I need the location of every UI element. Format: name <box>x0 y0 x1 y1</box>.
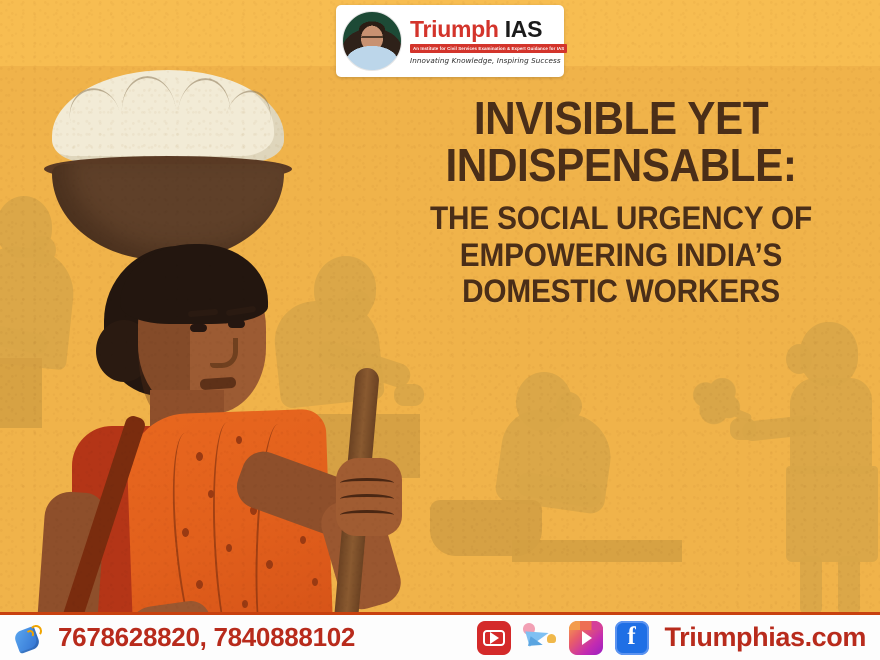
brand-title-triumph: Triumph <box>410 16 499 42</box>
brand-title: Triumph IAS <box>410 18 567 41</box>
facebook-icon[interactable]: f <box>615 621 649 655</box>
subheadline-line-2: EMPOWERING INDIA’S <box>402 237 839 273</box>
telegram-icon[interactable] <box>523 621 557 655</box>
phone-ringing-icon <box>14 621 48 655</box>
feather-duster-icon <box>690 378 742 426</box>
headline-block: INVISIBLE YET INDISPENSABLE: THE SOCIAL … <box>386 96 856 310</box>
subheadline-block: THE SOCIAL URGENCY OF EMPOWERING INDIA’S… <box>386 200 856 309</box>
phone-numbers[interactable]: 7678628820, 7840888102 <box>58 622 355 653</box>
headline-line-2: INDISPENSABLE: <box>405 143 837 188</box>
faculty-portrait-avatar <box>342 11 402 71</box>
poster-canvas: INVISIBLE YET INDISPENSABLE: THE SOCIAL … <box>0 0 880 660</box>
brand-logo-card[interactable]: Triumph IAS An Institute for Civil Servi… <box>336 5 564 77</box>
brand-ribbon-text: An Institute for Civil Services Examinat… <box>410 44 567 53</box>
foreground-woman-illustration <box>0 60 380 612</box>
social-icon-row: f <box>477 621 649 655</box>
brand-text-block: Triumph IAS An Institute for Civil Servi… <box>410 18 567 65</box>
brand-title-ias: IAS <box>505 16 542 42</box>
subheadline-line-1: THE SOCIAL URGENCY OF <box>402 200 839 236</box>
brand-tagline: Innovating Knowledge, Inspiring Success <box>410 56 567 65</box>
subheadline-line-3: DOMESTIC WORKERS <box>402 273 839 309</box>
headline-line-1: INVISIBLE YET <box>405 96 837 141</box>
website-url[interactable]: Triumphias.com <box>665 622 866 653</box>
contact-footer-bar: 7678628820, 7840888102 f Triumphias.com <box>0 612 880 660</box>
instagram-reels-icon[interactable] <box>569 621 603 655</box>
youtube-icon[interactable] <box>477 621 511 655</box>
